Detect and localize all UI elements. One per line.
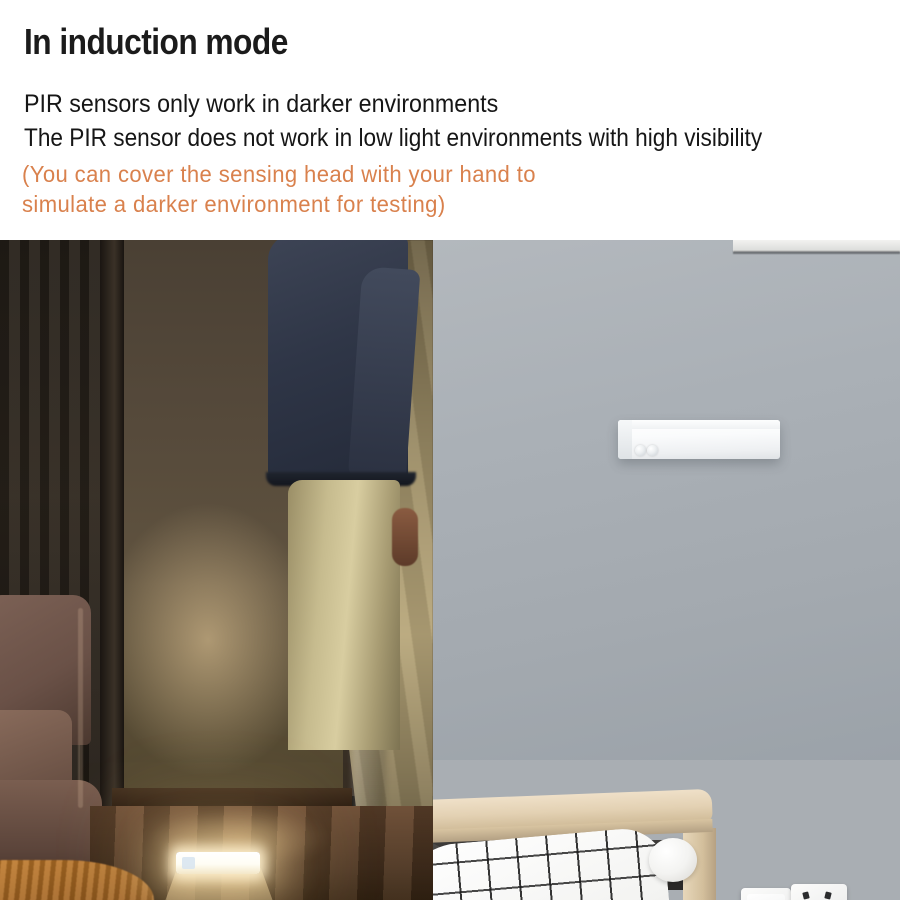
pir-sensor-dot-right: [647, 445, 658, 456]
ceiling-line: [733, 251, 900, 254]
photo-panel-bright-room: In low light environments, visibility is…: [433, 240, 900, 900]
curtain-edge: [100, 240, 124, 880]
photo-panel-dark-room: PIR sensors only sense in darker environ…: [0, 240, 433, 900]
pir-sensor-dot-left: [635, 445, 646, 456]
person-hand: [392, 508, 418, 566]
person-pants: [288, 480, 400, 750]
note-line-1: (You can cover the sensing head with you…: [22, 161, 536, 188]
led-bar-end-cap: [618, 420, 632, 459]
wall-switch-rocker: [747, 894, 785, 900]
header-text-block: In induction mode PIR sensors only work …: [0, 0, 900, 240]
wall-socket-plate: [791, 884, 847, 900]
pillow-pom-pom: [649, 838, 697, 882]
sofa-piping: [78, 608, 83, 808]
wall-gray: [433, 240, 900, 760]
description-line-2: The PIR sensor does not work in low ligh…: [24, 124, 762, 153]
page-title: In induction mode: [24, 21, 288, 63]
product-infographic-page: In induction mode PIR sensors only work …: [0, 0, 900, 900]
note-line-2: simulate a darker environment for testin…: [22, 191, 446, 218]
photo-comparison-strip: PIR sensors only sense in darker environ…: [0, 240, 900, 900]
pir-sensor-window: [182, 857, 195, 869]
description-line-1: PIR sensors only work in darker environm…: [24, 90, 498, 119]
led-bar-top-edge: [618, 420, 780, 429]
